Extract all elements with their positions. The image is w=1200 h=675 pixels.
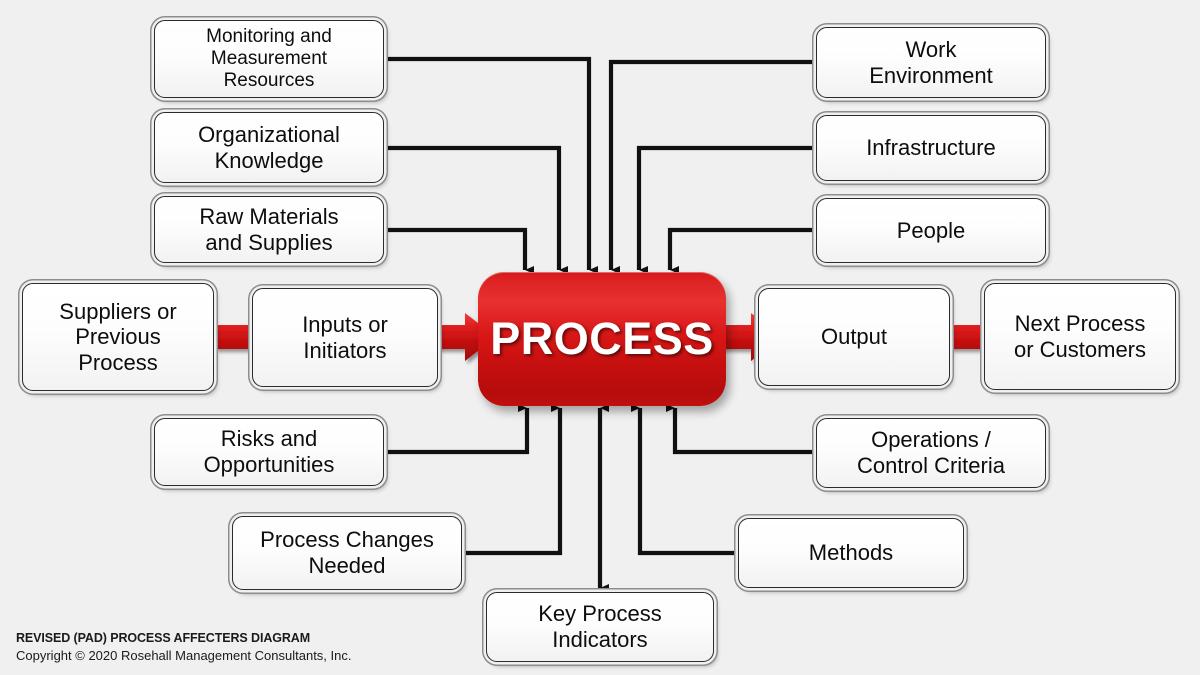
footer-title: REVISED (PAD) PROCESS AFFECTERS DIAGRAM xyxy=(16,631,352,645)
node-organizational-knowledge[interactable]: Organizational Knowledge xyxy=(154,112,384,183)
node-label: Process Changes Needed xyxy=(260,527,434,578)
wire-methods xyxy=(640,408,740,553)
node-label: Methods xyxy=(809,540,893,566)
node-label: Risks and Opportunities xyxy=(204,426,335,477)
node-label: Key Process Indicators xyxy=(538,601,662,652)
node-label: Suppliers or Previous Process xyxy=(59,299,176,376)
wire-infrastructure xyxy=(639,148,815,270)
node-people[interactable]: People xyxy=(816,198,1046,263)
node-label: Raw Materials and Supplies xyxy=(199,204,338,255)
wire-process-changes xyxy=(462,408,560,553)
node-inputs-or-initiators[interactable]: Inputs or Initiators xyxy=(252,288,438,387)
node-label: Infrastructure xyxy=(866,135,996,161)
wire-raw-materials xyxy=(385,230,525,270)
node-methods[interactable]: Methods xyxy=(738,518,964,588)
node-output[interactable]: Output xyxy=(758,288,950,386)
wire-operations-control xyxy=(675,408,815,452)
node-operations-control-criteria[interactable]: Operations / Control Criteria xyxy=(816,418,1046,488)
node-raw-materials-and-supplies[interactable]: Raw Materials and Supplies xyxy=(154,196,384,263)
footer-copyright: Copyright © 2020 Rosehall Management Con… xyxy=(16,648,352,663)
node-infrastructure[interactable]: Infrastructure xyxy=(816,115,1046,181)
node-process-changes-needed[interactable]: Process Changes Needed xyxy=(232,516,462,590)
node-risks-and-opportunities[interactable]: Risks and Opportunities xyxy=(154,418,384,486)
wire-organizational-knowledge xyxy=(385,148,559,270)
wire-people xyxy=(670,230,815,270)
node-work-environment[interactable]: Work Environment xyxy=(816,27,1046,98)
wire-risks-opportunities xyxy=(385,408,527,452)
node-next-process-or-customers[interactable]: Next Process or Customers xyxy=(984,283,1176,390)
node-label: Monitoring and Measurement Resources xyxy=(206,26,332,92)
process-label: PROCESS xyxy=(490,313,714,365)
node-label: People xyxy=(897,218,966,244)
wire-work-environment xyxy=(611,62,815,270)
process-node[interactable]: PROCESS xyxy=(478,272,726,406)
diagram-canvas: PROCESS Suppliers or Previous Process In… xyxy=(0,0,1200,675)
footer: REVISED (PAD) PROCESS AFFECTERS DIAGRAM … xyxy=(16,631,352,663)
node-label: Work Environment xyxy=(869,37,993,88)
wire-monitoring-resources xyxy=(385,59,589,270)
node-suppliers-or-previous-process[interactable]: Suppliers or Previous Process xyxy=(22,283,214,391)
node-label: Next Process or Customers xyxy=(1014,311,1146,362)
node-label: Inputs or Initiators xyxy=(302,312,388,363)
node-label: Output xyxy=(821,324,887,350)
node-key-process-indicators[interactable]: Key Process Indicators xyxy=(486,592,714,662)
node-monitoring-and-measurement-resources[interactable]: Monitoring and Measurement Resources xyxy=(154,20,384,98)
node-label: Organizational Knowledge xyxy=(198,122,340,173)
node-label: Operations / Control Criteria xyxy=(857,427,1005,478)
